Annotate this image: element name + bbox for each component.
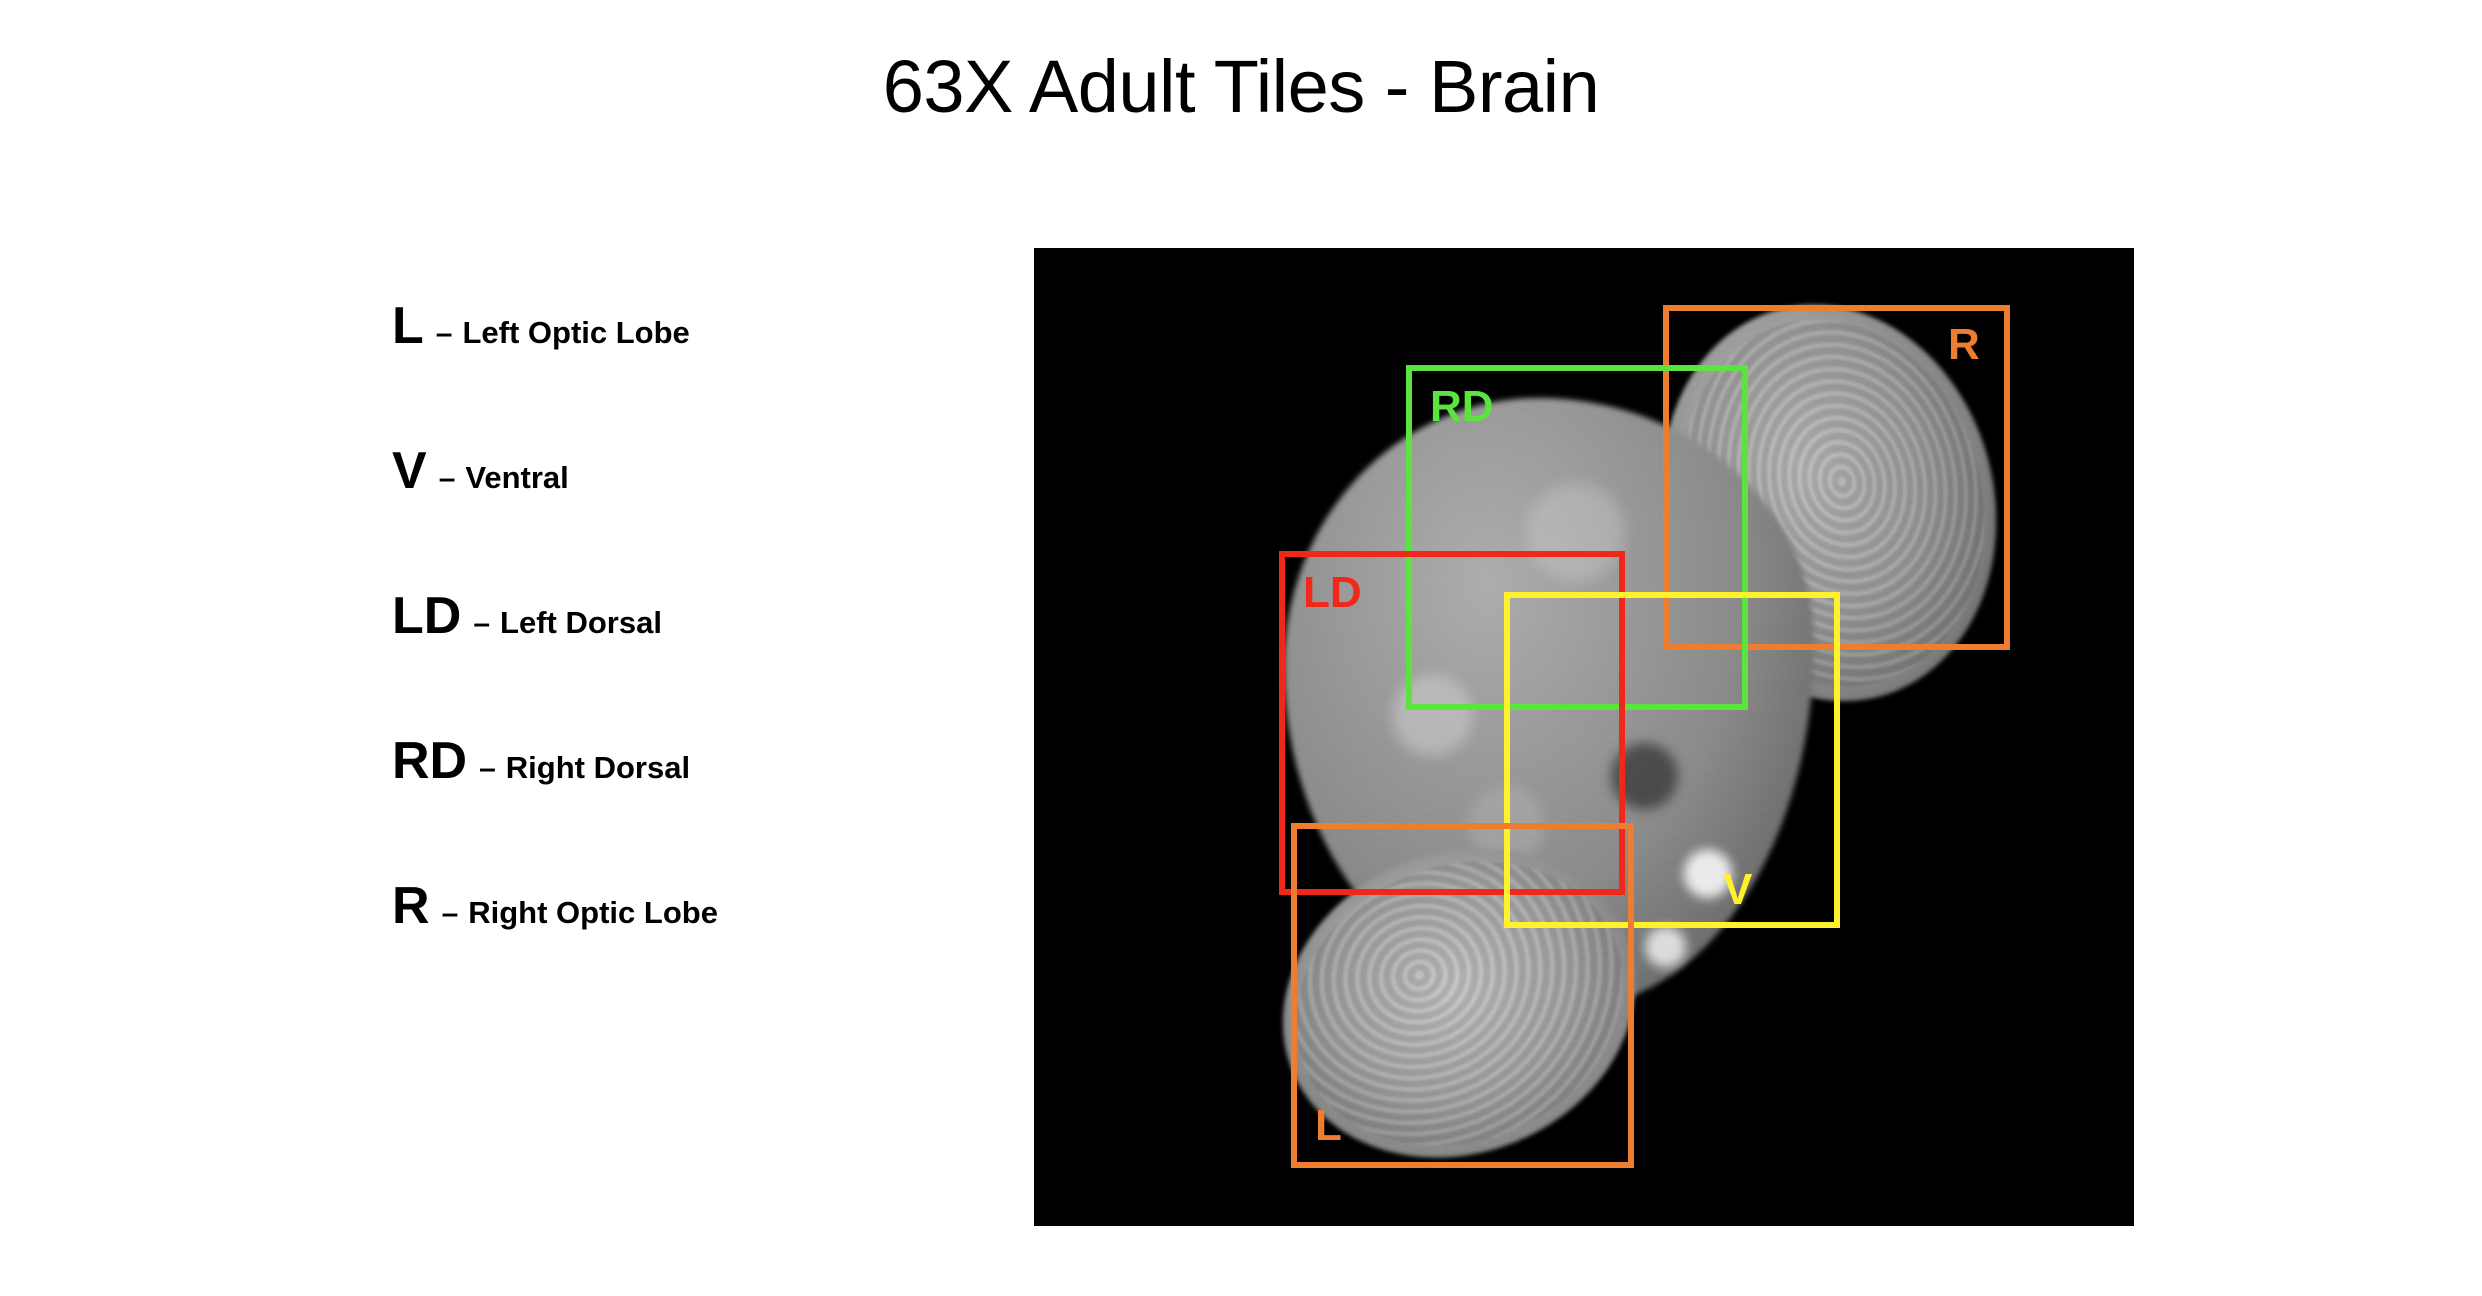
legend-description: Ventral — [465, 460, 568, 496]
page-title: 63X Adult Tiles - Brain — [0, 44, 2482, 129]
legend-dash: – — [424, 317, 463, 351]
legend-item-ld: LD – Left Dorsal — [392, 590, 952, 735]
legend-abbr: RD — [392, 735, 467, 787]
roi-label-ld: LD — [1303, 571, 1362, 615]
roi-label-rd: RD — [1430, 385, 1494, 429]
legend-abbr: R — [392, 880, 430, 932]
legend-description: Right Optic Lobe — [468, 895, 718, 931]
legend-dash: – — [467, 752, 506, 786]
roi-label-v: V — [1723, 868, 1752, 912]
legend-abbr: LD — [392, 590, 461, 642]
legend-item-l: L – Left Optic Lobe — [392, 300, 952, 445]
roi-box-l[interactable]: L — [1291, 823, 1634, 1168]
legend-dash: – — [461, 607, 500, 641]
legend-abbr: L — [392, 300, 424, 352]
legend-list: L – Left Optic Lobe V – Ventral LD – Lef… — [392, 300, 952, 1025]
legend-description: Left Optic Lobe — [462, 315, 689, 351]
legend-description: Left Dorsal — [500, 605, 662, 641]
legend-item-r: R – Right Optic Lobe — [392, 880, 952, 1025]
legend-item-rd: RD – Right Dorsal — [392, 735, 952, 880]
legend-description: Right Dorsal — [506, 750, 690, 786]
legend-item-v: V – Ventral — [392, 445, 952, 590]
legend-dash: – — [427, 462, 466, 496]
roi-label-l: L — [1315, 1104, 1342, 1148]
micrograph-panel: R RD LD V L — [1034, 248, 2134, 1226]
legend-dash: – — [430, 897, 469, 931]
legend-abbr: V — [392, 445, 427, 497]
roi-label-r: R — [1948, 323, 1980, 367]
